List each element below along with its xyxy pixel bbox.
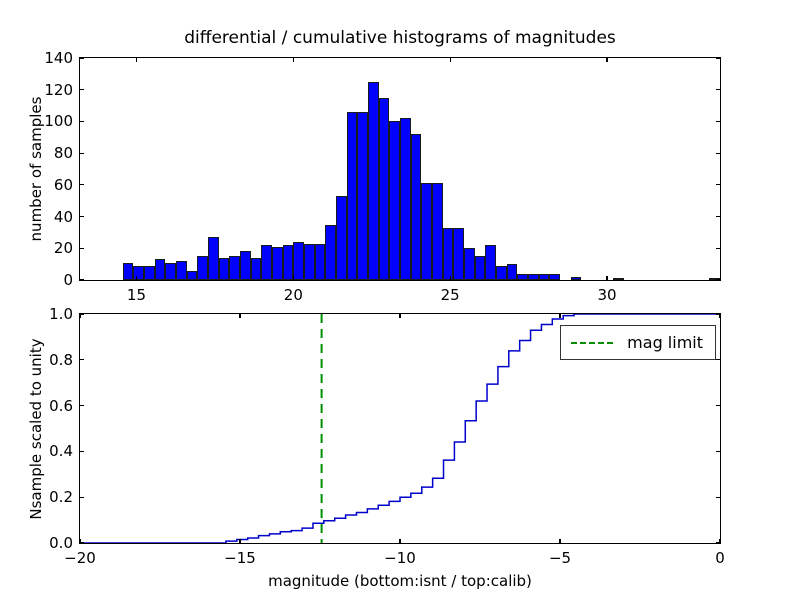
histogram-bar: [453, 228, 464, 280]
histogram-bar: [389, 121, 400, 280]
top-x-tick-label: 15: [127, 286, 146, 304]
histogram-bar: [400, 118, 411, 280]
top-x-tick-label: 30: [598, 286, 617, 304]
top-axes-differential-histogram: [79, 57, 721, 281]
histogram-bar: [571, 277, 582, 280]
histogram-bar: [368, 82, 379, 280]
figure-title: differential / cumulative histograms of …: [79, 28, 721, 48]
histogram-bar: [421, 183, 432, 280]
histogram-bar: [496, 266, 507, 280]
histogram-bar: [549, 274, 560, 280]
bottom-y-axis-label: Nsample scaled to unity: [27, 338, 45, 519]
histogram-bar: [443, 228, 454, 280]
histogram-bar: [187, 271, 198, 281]
histogram-bar: [155, 259, 166, 280]
histogram-bar: [229, 256, 240, 280]
bottom-x-tick-label: 0: [715, 549, 725, 567]
histogram-bar: [123, 263, 134, 280]
top-y-tick-label: 0: [31, 271, 73, 289]
mag-limit-line-swatch: [571, 342, 613, 344]
histogram-bar: [528, 274, 539, 280]
top-x-tick-label: 25: [441, 286, 460, 304]
histogram-bar: [411, 134, 422, 280]
histogram-bar: [379, 98, 390, 280]
histogram-bar: [517, 274, 528, 280]
histogram-bar: [293, 242, 304, 280]
bottom-axes-cumulative-histogram: mag limit: [79, 313, 721, 544]
bottom-x-tick-label: −15: [224, 549, 256, 567]
histogram-bar: [464, 248, 475, 280]
bottom-x-tick-label: −5: [549, 549, 571, 567]
top-y-axis-label: number of samples: [27, 97, 45, 242]
top-y-tick-label: 20: [31, 239, 73, 257]
bottom-y-tick-label: 1.0: [31, 305, 73, 323]
top-x-tick-label: 20: [284, 286, 303, 304]
histogram-bar: [485, 245, 496, 280]
histogram-bar: [432, 183, 443, 280]
histogram-bar: [240, 251, 251, 280]
histogram-bar: [539, 274, 550, 280]
histogram-bar: [176, 261, 187, 280]
histogram-bar: [283, 245, 294, 280]
histogram-bar: [165, 263, 176, 280]
histogram-bar: [219, 258, 230, 280]
top-y-tick-label: 140: [31, 49, 73, 67]
histogram-bar: [272, 247, 283, 280]
bottom-x-tick-label: −10: [384, 549, 416, 567]
x-axis-label: magnitude (bottom:isnt / top:calib): [79, 572, 721, 590]
histogram-bar: [347, 112, 358, 280]
histogram-bar: [325, 225, 336, 281]
matplotlib-figure: differential / cumulative histograms of …: [0, 0, 800, 600]
histogram-bar: [357, 112, 368, 280]
histogram-bar: [304, 244, 315, 280]
histogram-bar: [251, 258, 262, 280]
histogram-bar: [261, 245, 272, 280]
histogram-bar: [144, 266, 155, 280]
histogram-bar: [475, 256, 486, 280]
histogram-bar: [613, 278, 624, 280]
bottom-y-tick-label: 0.0: [31, 534, 73, 552]
histogram-bar: [507, 264, 518, 280]
histogram-bar: [315, 244, 326, 280]
top-plot-area: [80, 58, 720, 280]
legend-box: mag limit: [560, 325, 716, 360]
histogram-bar: [208, 237, 219, 280]
histogram-bar: [336, 196, 347, 280]
legend-entry-mag-limit: mag limit: [627, 333, 703, 352]
histogram-bar: [197, 256, 208, 280]
